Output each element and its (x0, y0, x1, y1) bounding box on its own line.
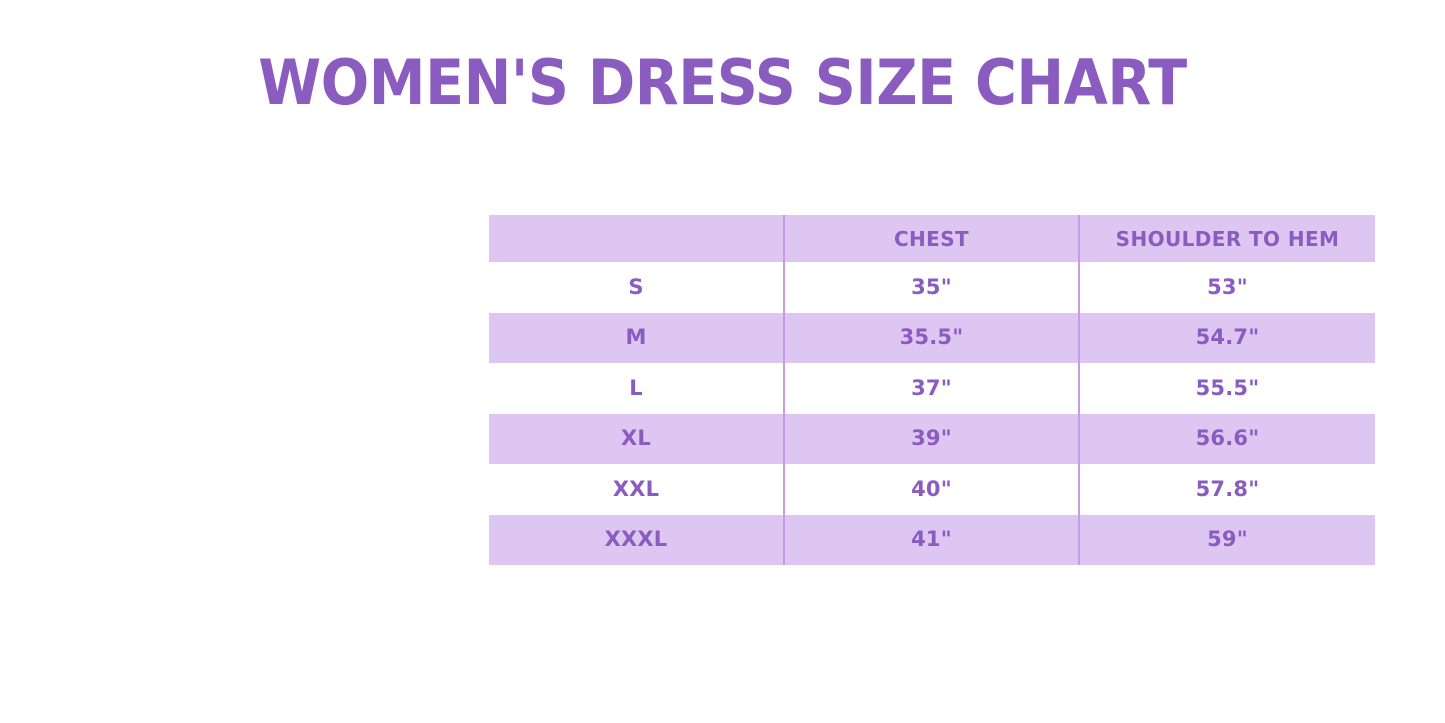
cell-chest: 39" (784, 414, 1079, 465)
cell-chest: 40" (784, 464, 1079, 515)
cell-chest: 37" (784, 363, 1079, 414)
cell-size: S (489, 262, 784, 313)
cell-shoulder-to-hem: 54.7" (1079, 313, 1375, 364)
table-row: M 35.5" 54.7" (489, 313, 1375, 364)
column-header-shoulder-to-hem: SHOULDER TO HEM (1079, 215, 1375, 262)
cell-chest: 41" (784, 515, 1079, 566)
table-row: L 37" 55.5" (489, 363, 1375, 414)
size-chart-table: CHEST SHOULDER TO HEM S 35" 53" M 35.5" … (489, 215, 1375, 565)
cell-chest: 35" (784, 262, 1079, 313)
column-header-chest: CHEST (784, 215, 1079, 262)
cell-size: XL (489, 414, 784, 465)
cell-size: L (489, 363, 784, 414)
table-header-row: CHEST SHOULDER TO HEM (489, 215, 1375, 262)
cell-chest: 35.5" (784, 313, 1079, 364)
table-row: S 35" 53" (489, 262, 1375, 313)
cell-shoulder-to-hem: 59" (1079, 515, 1375, 566)
page-title: WOMEN'S DRESS SIZE CHART (58, 52, 1387, 114)
column-header-size (489, 215, 784, 262)
cell-size: M (489, 313, 784, 364)
table-header: CHEST SHOULDER TO HEM (489, 215, 1375, 262)
table-body: S 35" 53" M 35.5" 54.7" L 37" 55.5" XL 3… (489, 262, 1375, 565)
cell-shoulder-to-hem: 53" (1079, 262, 1375, 313)
cell-shoulder-to-hem: 56.6" (1079, 414, 1375, 465)
cell-size: XXXL (489, 515, 784, 566)
table-row: XL 39" 56.6" (489, 414, 1375, 465)
table-row: XXXL 41" 59" (489, 515, 1375, 566)
cell-size: XXL (489, 464, 784, 515)
cell-shoulder-to-hem: 57.8" (1079, 464, 1375, 515)
size-chart-page: WOMEN'S DRESS SIZE CHART CHEST SHOULDER … (0, 0, 1445, 723)
table-row: XXL 40" 57.8" (489, 464, 1375, 515)
cell-shoulder-to-hem: 55.5" (1079, 363, 1375, 414)
